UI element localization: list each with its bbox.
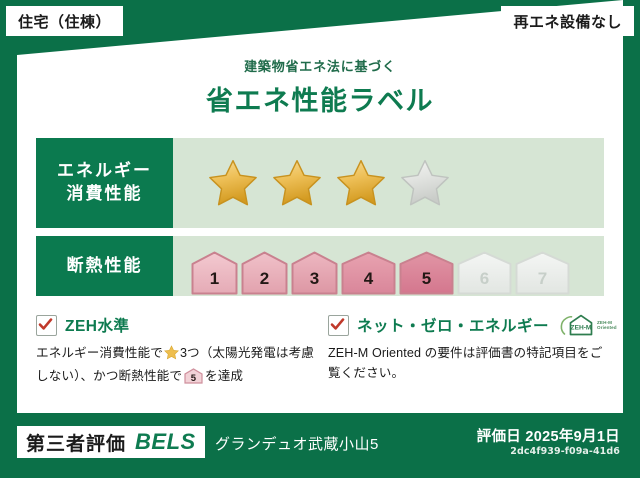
note-body-pre: エネルギー消費性能で — [36, 346, 163, 360]
star-filled-icon — [207, 158, 259, 208]
tag-building-type: 住宅（住棟） — [6, 6, 123, 36]
notes-section: ZEH水準 エネルギー消費性能で 3つ（太陽光発電は考慮しない）、かつ断熱性能で… — [36, 314, 608, 391]
inline-grade-badge: 5 — [184, 368, 203, 390]
row-energy-panel — [173, 138, 604, 228]
checkbox-net-zero-energy[interactable] — [328, 315, 349, 336]
row-energy-label-line1: エネルギー — [57, 160, 152, 183]
bels-badge-jp: 第三者評価 — [26, 429, 126, 456]
page-title: 建築物省エネ法に基づく 省エネ性能ラベル — [17, 56, 623, 118]
energy-performance-label: 住宅（住棟） 再エネ設備なし 建築物省エネ法に基づく 省エネ性能ラベル エネルギ… — [0, 0, 640, 478]
zeh-m-side-line1: ZEH-M — [597, 320, 612, 325]
evaluation-date: 評価日 2025年9月1日 — [477, 425, 620, 446]
note-zeh-standard: ZEH水準 エネルギー消費性能で 3つ（太陽光発電は考慮しない）、かつ断熱性能で… — [36, 314, 314, 391]
note-zeh-standard-head: ZEH水準 — [36, 314, 314, 336]
title-subtitle: 建築物省エネ法に基づく — [17, 56, 623, 75]
insulation-grade-5: 5 — [399, 251, 454, 295]
note-net-zero-energy-body: ZEH-M Oriented の要件は評価書の特記項目をご覧ください。 — [328, 343, 606, 384]
label-content: 建築物省エネ法に基づく 省エネ性能ラベル エネルギー 消費性能 断熱性能 123… — [17, 0, 623, 413]
property-name: グランデュオ武蔵小山5 — [215, 433, 379, 454]
checkbox-zeh-standard[interactable] — [36, 315, 57, 336]
note-net-zero-energy-head: ネット・ゼロ・エネルギー ZEH-M ZEH-M Oriented — [328, 314, 606, 336]
zeh-m-logo-text: ZEH-M — [571, 325, 592, 332]
tag-building-type-text: 住宅（住棟） — [18, 11, 111, 32]
insulation-grade-2: 2 — [241, 251, 288, 295]
star-empty-icon — [399, 158, 451, 208]
inline-grade-number: 5 — [191, 373, 197, 384]
row-energy-performance: エネルギー 消費性能 — [36, 138, 604, 228]
note-zeh-standard-title: ZEH水準 — [65, 314, 130, 336]
insulation-grade-7: 7 — [515, 251, 570, 295]
row-insulation-panel: 1234567 — [173, 236, 604, 296]
inline-star-icon — [164, 345, 179, 366]
bels-badge-en: BELS — [135, 429, 196, 455]
note-zeh-standard-body: エネルギー消費性能で 3つ（太陽光発電は考慮しない）、かつ断熱性能で 5 を達成 — [36, 343, 314, 391]
note-net-zero-energy: ネット・ゼロ・エネルギー ZEH-M ZEH-M Oriented ZEH — [328, 314, 606, 391]
zeh-m-side-line2: Oriented — [597, 325, 617, 330]
insulation-grade-scale: 1234567 — [173, 235, 570, 298]
note-body-post: を達成 — [205, 369, 243, 383]
insulation-grade-6: 6 — [457, 251, 512, 295]
zeh-m-logo-side-text: ZEH-M Oriented — [597, 320, 617, 331]
row-insulation-label: 断熱性能 — [36, 236, 173, 296]
insulation-grade-4: 4 — [341, 251, 396, 295]
star-rating — [173, 158, 451, 208]
zeh-m-logo: ZEH-M ZEH-M Oriented — [559, 313, 617, 337]
tag-renewable-energy-text: 再エネ設備なし — [513, 11, 622, 32]
row-energy-label-line2: 消費性能 — [67, 183, 143, 206]
bels-badge: 第三者評価 BELS — [17, 426, 205, 458]
tag-renewable-energy: 再エネ設備なし — [501, 6, 634, 36]
insulation-grade-1: 1 — [191, 251, 238, 295]
star-filled-icon — [271, 158, 323, 208]
note-net-zero-energy-title: ネット・ゼロ・エネルギー — [357, 314, 549, 336]
footer: 第三者評価 BELS グランデュオ武蔵小山5 評価日 2025年9月1日 2dc… — [0, 413, 640, 478]
star-filled-icon — [335, 158, 387, 208]
row-energy-label: エネルギー 消費性能 — [36, 138, 173, 228]
evaluation-id: 2dc4f939-f09a-41d6 — [510, 446, 620, 457]
title-main: 省エネ性能ラベル — [17, 79, 623, 118]
row-insulation-label-text: 断熱性能 — [67, 255, 143, 278]
row-insulation-performance: 断熱性能 1234567 — [36, 236, 604, 296]
insulation-grade-3: 3 — [291, 251, 338, 295]
